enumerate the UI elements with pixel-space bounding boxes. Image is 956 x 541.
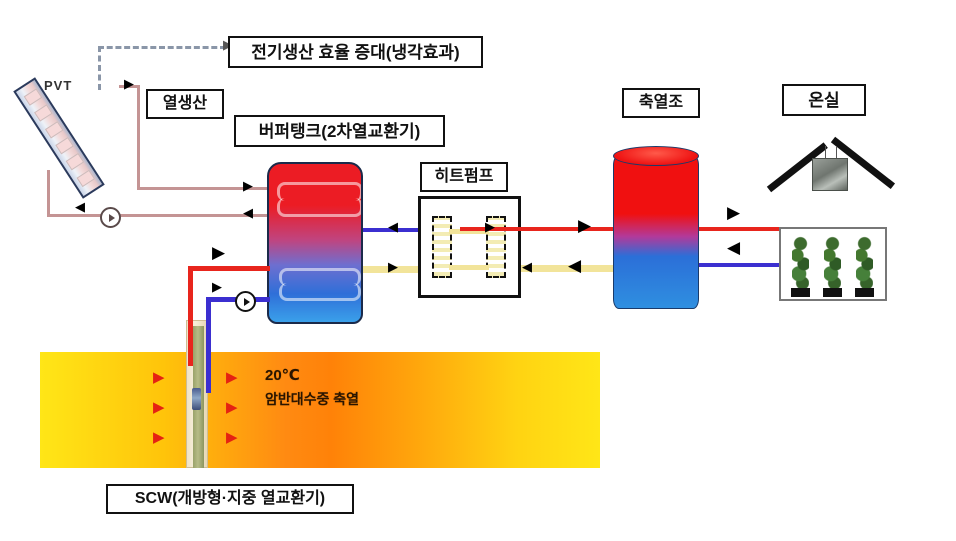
greenhouse-fan-coil-unit [812, 158, 848, 191]
electric-line-dashed [98, 46, 226, 49]
flow-arrow-icon: ◀ [522, 261, 532, 274]
buffer-coil-upper2 [277, 198, 363, 217]
pvt-cell [23, 89, 42, 106]
label-greenhouse: 온실 [782, 84, 866, 116]
pipe-well-supply-up [188, 266, 193, 366]
flow-arrow-icon: ◀ [243, 207, 253, 220]
pvt-cell [44, 121, 63, 138]
pipe-well-supply-to-buffer [188, 266, 270, 271]
greenhouse-pot [791, 288, 810, 297]
ground-temperature: 20℃ [265, 364, 359, 388]
label-heat-production: 열생산 [146, 89, 224, 119]
ground-heat-arrow-icon: ▶ [153, 400, 165, 415]
flow-arrow-icon: ◀ [727, 240, 740, 257]
tank-top-ellipse [613, 146, 699, 166]
greenhouse-pot [855, 288, 874, 297]
greenhouse-pot [823, 288, 842, 297]
pipe-hp-to-tank-red [460, 227, 615, 231]
label-heat-pump: 히트펌프 [420, 162, 508, 192]
pvt-panel [13, 77, 105, 199]
buffer-tank [267, 162, 363, 324]
pipe-well-return-down [206, 297, 211, 393]
electric-line-vertical [98, 46, 101, 90]
hp-internal-pipe-bottom [449, 265, 489, 270]
label-pvt: PVT [44, 78, 72, 93]
buffer-coil-lower2 [279, 283, 361, 301]
flow-arrow-icon: ▶ [243, 180, 253, 193]
pipe-pvt-down [137, 85, 140, 189]
submersible-pump-icon [192, 388, 201, 410]
flow-arrow-icon: ▶ [727, 205, 740, 222]
ground-heat-arrow-icon: ▶ [153, 370, 165, 385]
tank-body [613, 155, 699, 309]
pvt-cell [65, 154, 84, 171]
flow-arrow-icon: ▶ [578, 218, 591, 235]
label-storage-tank: 축열조 [622, 88, 700, 118]
greenhouse-plant [856, 232, 873, 290]
flow-arrow-icon: ▶ [485, 221, 495, 234]
flow-arrow-icon: ▶ [124, 78, 134, 91]
flow-arrow-icon: ▶ [388, 261, 398, 274]
flow-arrow-icon: ◀ [75, 201, 85, 214]
pvt-cell [76, 170, 95, 187]
flow-arrow-icon: ◀ [388, 221, 398, 234]
label-electricity-efficiency: 전기생산 효율 증대(냉각효과) [228, 36, 483, 68]
flow-arrow-icon: ▶ [212, 281, 222, 294]
flow-arrow-icon: ◀ [568, 258, 581, 275]
ground-loop-pump-icon[interactable] [235, 291, 256, 312]
greenhouse-plant [824, 232, 841, 290]
heat-pump-unit [418, 196, 521, 298]
thermal-storage-tank [613, 146, 699, 309]
greenhouse-plant [792, 232, 809, 290]
ground-annotation: 20℃ 암반대수중 축열 [265, 364, 359, 410]
pvt-cell [55, 137, 74, 154]
label-scw: SCW(개방형·지중 열교환기) [106, 484, 354, 514]
solar-circulation-pump-icon[interactable] [100, 207, 121, 228]
ground-heat-arrow-icon: ▶ [153, 430, 165, 445]
flow-arrow-icon: ▶ [212, 245, 225, 262]
label-buffer-tank: 버퍼탱크(2차열교환기) [234, 115, 445, 147]
pvt-cell [34, 105, 53, 122]
diagram-canvas: ▶ 전기생산 효율 증대(냉각효과) 열생산 버퍼탱크(2차열교환기) 히트펌프… [0, 0, 956, 541]
pipe-pvt-return-up [47, 170, 50, 216]
ground-heat-arrow-icon: ▶ [226, 430, 238, 445]
ground-heat-arrow-icon: ▶ [226, 370, 238, 385]
ground-storage-text: 암반대수중 축열 [265, 388, 359, 410]
ground-heat-arrow-icon: ▶ [226, 400, 238, 415]
